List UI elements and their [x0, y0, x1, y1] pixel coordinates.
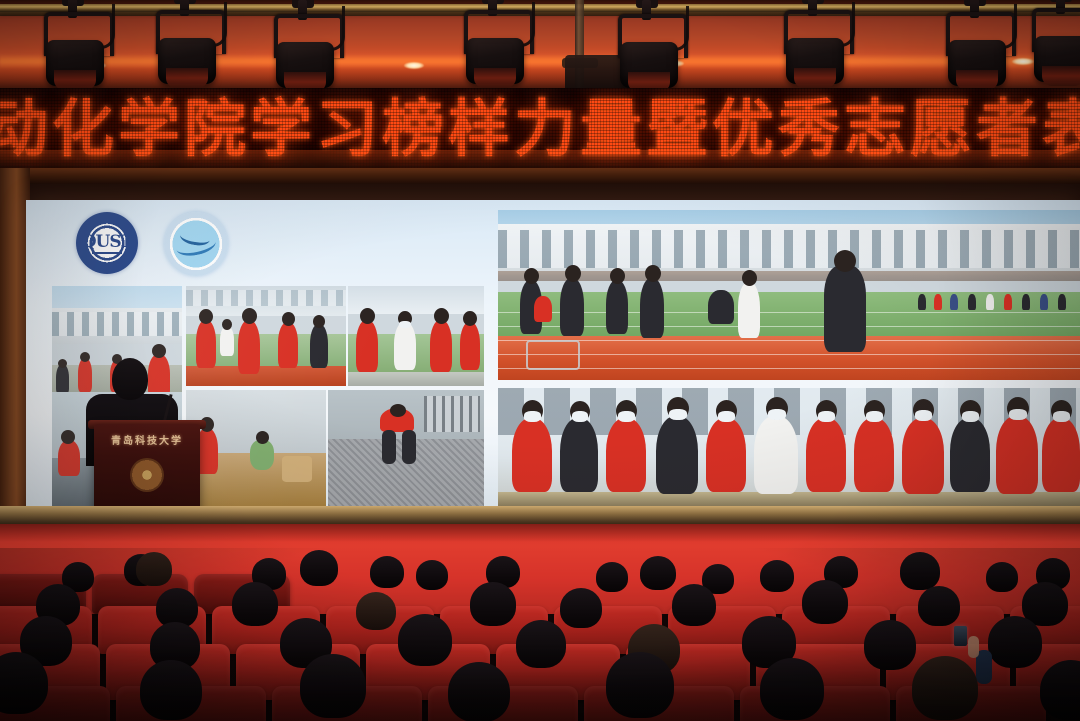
- photo-volunteer-group: [498, 388, 1080, 506]
- led-banner: 动化学院学习榜样力量暨优秀志愿者表: [0, 88, 1080, 170]
- qust-university-logo: QUST: [76, 212, 138, 274]
- stage-spotlight: [150, 2, 224, 88]
- audience-head: [672, 584, 716, 626]
- smartphone-recording: [954, 626, 967, 646]
- photo-campus-sportsfield: [498, 210, 1080, 380]
- audience-head: [448, 662, 510, 721]
- audience-head: [136, 552, 172, 586]
- stage-spotlight: [940, 4, 1014, 90]
- audience-head: [918, 586, 960, 626]
- audience-head: [370, 556, 404, 588]
- audience-head: [560, 588, 602, 628]
- stage-spotlight: [458, 2, 532, 88]
- audience-head: [398, 614, 452, 666]
- audience-head: [802, 580, 848, 624]
- department-logo: [164, 212, 228, 276]
- audience-seating: [0, 548, 1080, 721]
- screen-logo-row: QUST: [52, 210, 312, 280]
- stage-spotlight: [612, 6, 686, 92]
- audience-head: [986, 562, 1018, 592]
- audience-head: [606, 652, 674, 718]
- photo-volunteers-line: [348, 286, 484, 386]
- audience-head: [760, 560, 794, 592]
- audience-head: [900, 552, 940, 590]
- ceiling: [0, 0, 1080, 92]
- speaker-head: [112, 358, 148, 400]
- stage-floor-shadow: [0, 524, 1080, 542]
- proscenium-valance: [0, 168, 1080, 184]
- auditorium-scene: 动化学院学习榜样力量暨优秀志愿者表 QUST: [0, 0, 1080, 721]
- audience-head: [140, 660, 202, 720]
- audience-hand: [968, 636, 979, 658]
- stage-spotlight: [1026, 0, 1080, 86]
- audience-head: [640, 556, 676, 590]
- stage-spotlight: [38, 4, 112, 90]
- audience-head: [596, 562, 628, 592]
- audience-head: [516, 620, 566, 668]
- audience-head: [300, 654, 366, 718]
- audience-head: [864, 620, 916, 670]
- qust-logo-abbr: QUST: [76, 232, 138, 252]
- audience-head: [416, 560, 448, 590]
- audience-head: [232, 582, 278, 626]
- audience-head: [760, 658, 824, 720]
- audience-head: [470, 582, 516, 626]
- photo-volunteer-bending: [328, 390, 484, 506]
- stage-spotlight: [268, 6, 342, 92]
- university-seal: [130, 458, 164, 492]
- led-banner-text: 动化学院学习榜样力量暨优秀志愿者表: [0, 88, 1080, 170]
- audience-head: [300, 550, 338, 586]
- stage-spotlight: [778, 2, 852, 88]
- audience-head: [912, 656, 978, 720]
- audience-head: [988, 616, 1042, 668]
- ceiling-downlight: [404, 62, 424, 69]
- audience-head: [356, 592, 396, 630]
- podium-engraved-text: 青岛科技大学: [94, 432, 200, 447]
